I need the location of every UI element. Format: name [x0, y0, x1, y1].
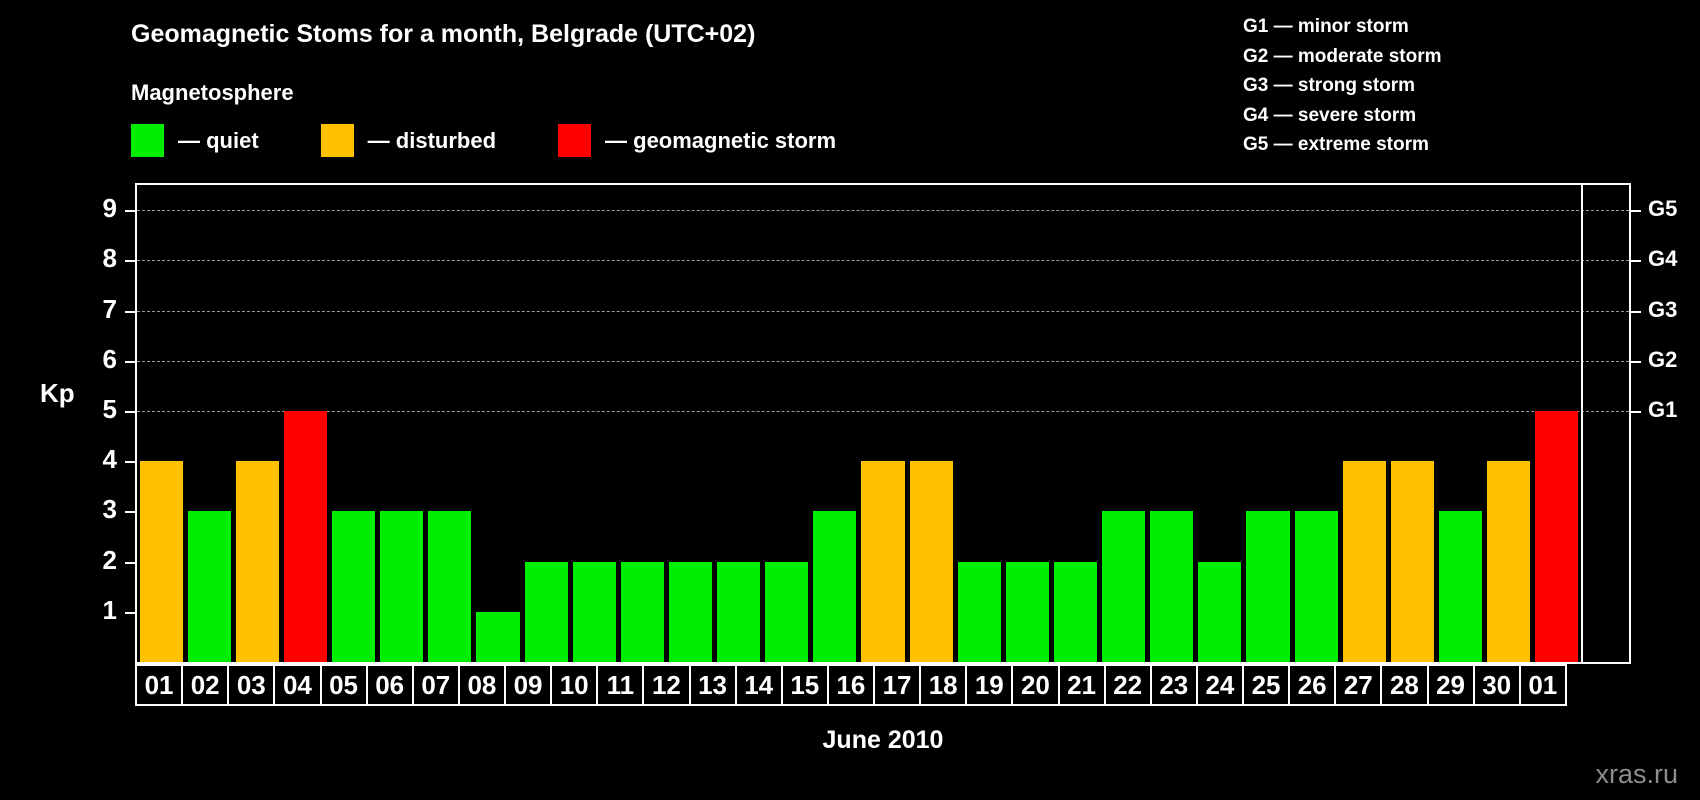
bar-day-16[interactable]: [861, 461, 904, 662]
y-tick-label-6: 6: [77, 344, 117, 375]
day-label-21[interactable]: 22: [1104, 664, 1152, 706]
day-label-10[interactable]: 11: [596, 664, 644, 706]
g-axis-label-G2: G2: [1648, 347, 1698, 373]
bar-day-30[interactable]: [1535, 411, 1578, 662]
plot-inner: [137, 185, 1629, 662]
bar-slot-day-17[interactable]: [907, 185, 955, 662]
legend-item-quiet: — quiet: [131, 124, 259, 157]
g-scale-row-3: G3 — strong storm: [1243, 71, 1442, 101]
bar-slot-day-12[interactable]: [666, 185, 714, 662]
y-tick-label-2: 2: [77, 545, 117, 576]
bar-slot-day-02[interactable]: [185, 185, 233, 662]
y-axis-title: Kp: [40, 378, 75, 409]
bar-day-01[interactable]: [140, 461, 183, 662]
x-axis-title-wrap: June 2010: [135, 726, 1631, 755]
bar-slot-day-29[interactable]: [1485, 185, 1533, 662]
bar-day-10[interactable]: [573, 562, 616, 662]
bar-day-20[interactable]: [1054, 562, 1097, 662]
bar-day-28[interactable]: [1439, 511, 1482, 662]
y-tick-label-4: 4: [77, 444, 117, 475]
day-label-2[interactable]: 03: [227, 664, 275, 706]
bar-day-26[interactable]: [1343, 461, 1386, 662]
y-tick-3: [125, 511, 137, 513]
day-label-7[interactable]: 08: [458, 664, 506, 706]
bar-slot-day-21[interactable]: [1100, 185, 1148, 662]
y-tick-label-1: 1: [77, 595, 117, 626]
day-label-16[interactable]: 17: [873, 664, 921, 706]
bar-slot-day-01[interactable]: [1581, 185, 1629, 662]
bar-slot-day-05[interactable]: [330, 185, 378, 662]
bar-day-25[interactable]: [1295, 511, 1338, 662]
bar-day-13[interactable]: [717, 562, 760, 662]
day-label-30[interactable]: 01: [1519, 664, 1567, 706]
day-label-0[interactable]: 01: [135, 664, 183, 706]
legend-label-disturbed: — disturbed: [368, 128, 496, 154]
g-axis-label-G3: G3: [1648, 297, 1698, 323]
day-label-5[interactable]: 06: [366, 664, 414, 706]
g-tick-G2: [1629, 361, 1641, 363]
g-tick-G5: [1629, 210, 1641, 212]
bar-day-04[interactable]: [284, 411, 327, 662]
g-tick-G3: [1629, 311, 1641, 313]
day-label-13[interactable]: 14: [735, 664, 783, 706]
g-tick-G1: [1629, 411, 1641, 413]
bar-day-21[interactable]: [1102, 511, 1145, 662]
bar-day-17[interactable]: [910, 461, 953, 662]
bar-day-08[interactable]: [476, 612, 519, 662]
bar-series: [137, 185, 1629, 662]
g-scale-row-1: G1 — minor storm: [1243, 12, 1442, 42]
bar-day-29[interactable]: [1487, 461, 1530, 662]
bar-slot-day-30[interactable]: [1533, 185, 1581, 662]
y-tick-label-7: 7: [77, 294, 117, 325]
day-label-8[interactable]: 09: [504, 664, 552, 706]
day-label-27[interactable]: 28: [1380, 664, 1428, 706]
legend: — quiet— disturbed— geomagnetic storm: [131, 124, 898, 157]
y-tick-8: [125, 260, 137, 262]
bar-slot-day-27[interactable]: [1388, 185, 1436, 662]
bar-slot-day-20[interactable]: [1051, 185, 1099, 662]
magnetosphere-label: Magnetosphere: [131, 80, 294, 106]
legend-label-storm: — geomagnetic storm: [605, 128, 836, 154]
bar-day-15[interactable]: [813, 511, 856, 662]
y-tick-label-8: 8: [77, 243, 117, 274]
day-label-22[interactable]: 23: [1150, 664, 1198, 706]
y-tick-label-5: 5: [77, 394, 117, 425]
day-label-19[interactable]: 20: [1011, 664, 1059, 706]
g-axis-label-G4: G4: [1648, 246, 1698, 272]
y-tick-1: [125, 612, 137, 614]
bar-slot-day-15[interactable]: [811, 185, 859, 662]
bar-slot-day-07[interactable]: [426, 185, 474, 662]
day-label-12[interactable]: 13: [689, 664, 737, 706]
g-tick-G4: [1629, 260, 1641, 262]
bar-day-06[interactable]: [380, 511, 423, 662]
bar-slot-day-19[interactable]: [1003, 185, 1051, 662]
day-label-14[interactable]: 15: [781, 664, 829, 706]
bar-slot-day-11[interactable]: [618, 185, 666, 662]
day-label-6[interactable]: 07: [412, 664, 460, 706]
day-label-15[interactable]: 16: [827, 664, 875, 706]
bar-slot-day-25[interactable]: [1292, 185, 1340, 662]
y-tick-4: [125, 461, 137, 463]
bar-day-12[interactable]: [669, 562, 712, 662]
bar-day-02[interactable]: [188, 511, 231, 662]
month-divider: [1581, 185, 1583, 662]
bar-slot-day-03[interactable]: [233, 185, 281, 662]
bar-slot-day-16[interactable]: [859, 185, 907, 662]
y-tick-9: [125, 210, 137, 212]
y-tick-6: [125, 361, 137, 363]
legend-swatch-quiet: [131, 124, 164, 157]
bar-day-24[interactable]: [1246, 511, 1289, 662]
bar-slot-day-08[interactable]: [474, 185, 522, 662]
day-label-26[interactable]: 27: [1334, 664, 1382, 706]
bar-day-14[interactable]: [765, 562, 808, 662]
bar-slot-day-14[interactable]: [763, 185, 811, 662]
bar-day-09[interactable]: [525, 562, 568, 662]
day-label-17[interactable]: 18: [919, 664, 967, 706]
chart-title: Geomagnetic Stoms for a month, Belgrade …: [131, 20, 755, 49]
day-labels: 0102030405060708091011121314151617181920…: [135, 664, 1631, 706]
bar-slot-day-01[interactable]: [137, 185, 185, 662]
bar-day-05[interactable]: [332, 511, 375, 662]
bar-slot-day-10[interactable]: [570, 185, 618, 662]
day-label-25[interactable]: 26: [1288, 664, 1336, 706]
bar-slot-day-26[interactable]: [1340, 185, 1388, 662]
y-tick-2: [125, 562, 137, 564]
y-tick-5: [125, 411, 137, 413]
g-scale-row-2: G2 — moderate storm: [1243, 42, 1442, 72]
legend-label-quiet: — quiet: [178, 128, 259, 154]
day-label-18[interactable]: 19: [965, 664, 1013, 706]
plot-area: [135, 183, 1631, 664]
day-label-9[interactable]: 10: [550, 664, 598, 706]
day-label-23[interactable]: 24: [1196, 664, 1244, 706]
g-axis-label-G1: G1: [1648, 397, 1698, 423]
bar-slot-day-06[interactable]: [378, 185, 426, 662]
bar-day-03[interactable]: [236, 461, 279, 662]
y-tick-label-3: 3: [77, 494, 117, 525]
day-label-29[interactable]: 30: [1473, 664, 1521, 706]
bar-day-22[interactable]: [1150, 511, 1193, 662]
g-axis-label-G5: G5: [1648, 196, 1698, 222]
day-label-3[interactable]: 04: [273, 664, 321, 706]
bar-day-27[interactable]: [1391, 461, 1434, 662]
legend-swatch-disturbed: [321, 124, 354, 157]
legend-item-disturbed: — disturbed: [321, 124, 496, 157]
legend-item-storm: — geomagnetic storm: [558, 124, 836, 157]
g-scale-row-4: G4 — severe storm: [1243, 101, 1442, 131]
g-scale-legend: G1 — minor stormG2 — moderate stormG3 — …: [1243, 12, 1442, 160]
bar-slot-day-28[interactable]: [1436, 185, 1484, 662]
bar-day-11[interactable]: [621, 562, 664, 662]
day-label-11[interactable]: 12: [642, 664, 690, 706]
bar-slot-day-24[interactable]: [1244, 185, 1292, 662]
watermark: xras.ru: [1595, 759, 1678, 790]
y-tick-label-9: 9: [77, 193, 117, 224]
x-axis-title: June 2010: [823, 726, 944, 754]
bar-day-07[interactable]: [428, 511, 471, 662]
bar-day-18[interactable]: [958, 562, 1001, 662]
bar-slot-day-04[interactable]: [281, 185, 329, 662]
bar-day-19[interactable]: [1006, 562, 1049, 662]
day-label-28[interactable]: 29: [1427, 664, 1475, 706]
bar-day-23[interactable]: [1198, 562, 1241, 662]
day-label-20[interactable]: 21: [1058, 664, 1106, 706]
day-label-4[interactable]: 05: [320, 664, 368, 706]
day-label-1[interactable]: 02: [181, 664, 229, 706]
bar-slot-day-18[interactable]: [955, 185, 1003, 662]
bar-slot-day-23[interactable]: [1196, 185, 1244, 662]
day-label-24[interactable]: 25: [1242, 664, 1290, 706]
y-tick-7: [125, 311, 137, 313]
legend-swatch-storm: [558, 124, 591, 157]
g-scale-row-5: G5 — extreme storm: [1243, 130, 1442, 160]
bar-slot-day-13[interactable]: [715, 185, 763, 662]
bar-slot-day-22[interactable]: [1148, 185, 1196, 662]
bar-slot-day-09[interactable]: [522, 185, 570, 662]
